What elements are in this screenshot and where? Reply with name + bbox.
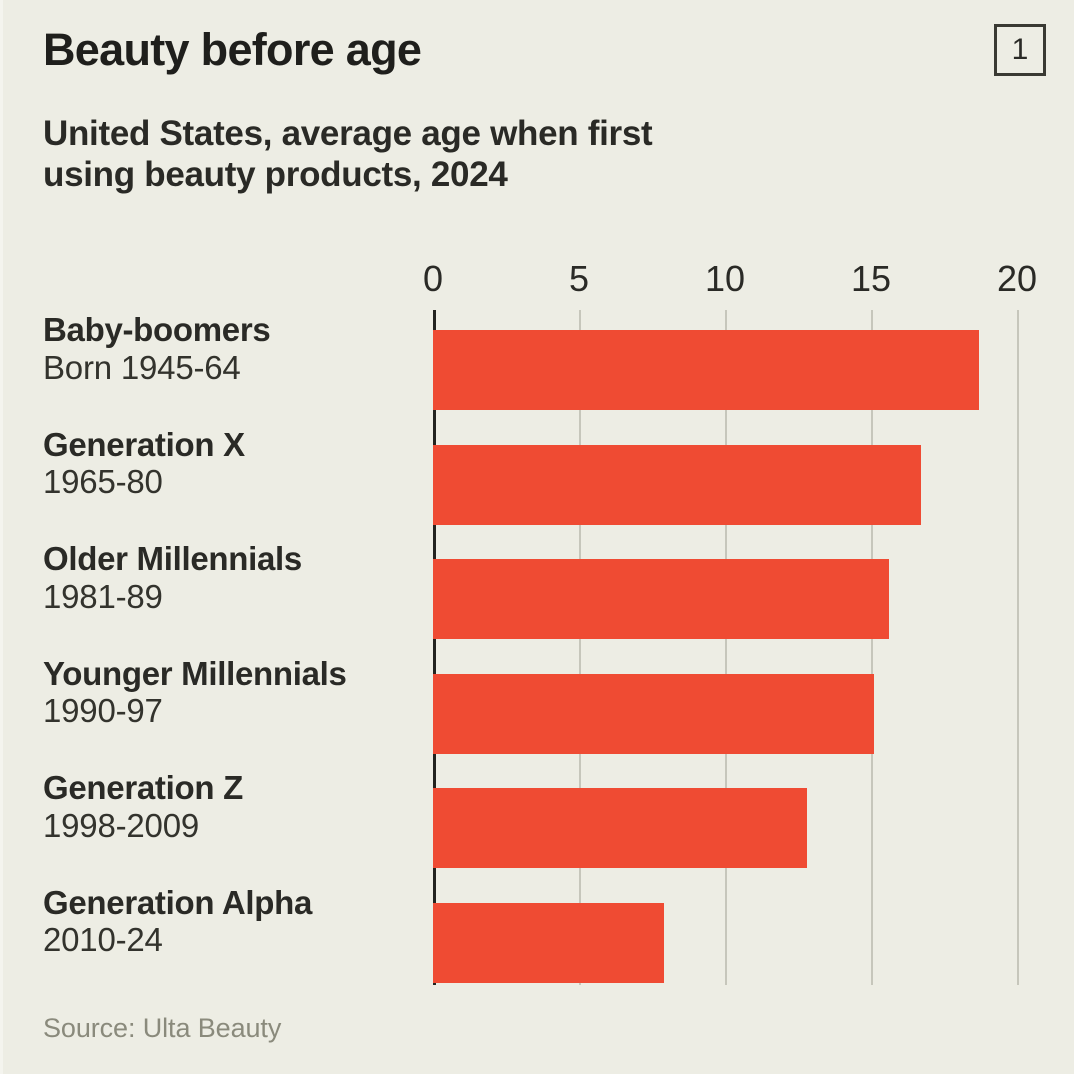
category-name: Younger Millennials — [43, 656, 433, 693]
bar — [433, 445, 921, 525]
x-tick-label-10: 10 — [705, 258, 745, 300]
bar — [433, 674, 874, 754]
category-label: Older Millennials1981-89 — [43, 541, 433, 617]
category-name: Baby-boomers — [43, 312, 433, 349]
category-name: Generation X — [43, 427, 433, 464]
infographic-card: Beauty before age 1 United States, avera… — [0, 0, 1074, 1074]
page-title: Beauty before age — [43, 26, 421, 73]
category-labels: Baby-boomersBorn 1945-64Generation X1965… — [43, 310, 433, 985]
category-birth-years: 2010-24 — [43, 921, 433, 960]
category-label: Baby-boomersBorn 1945-64 — [43, 312, 433, 388]
x-tick-label-15: 15 — [851, 258, 891, 300]
source-note: Source: Ulta Beauty — [43, 1013, 281, 1044]
category-birth-years: 1990-97 — [43, 692, 433, 731]
x-tick-label-5: 5 — [569, 258, 589, 300]
category-birth-years: 1981-89 — [43, 578, 433, 617]
bar — [433, 903, 664, 983]
category-label: Generation Z1998-2009 — [43, 770, 433, 846]
x-tick-label-20: 20 — [997, 258, 1037, 300]
category-label: Younger Millennials1990-97 — [43, 656, 433, 732]
bar — [433, 330, 979, 410]
category-birth-years: 1998-2009 — [43, 807, 433, 846]
chart-subtitle: United States, average age when first us… — [43, 113, 743, 196]
category-birth-years: Born 1945-64 — [43, 349, 433, 388]
x-axis-tick-labels: 05101520 — [433, 258, 1017, 304]
category-name: Older Millennials — [43, 541, 433, 578]
figure-number-badge: 1 — [994, 24, 1046, 76]
category-label: Generation Alpha2010-24 — [43, 885, 433, 961]
bar — [433, 788, 807, 868]
category-name: Generation Z — [43, 770, 433, 807]
gridline-20 — [1017, 310, 1019, 985]
category-label: Generation X1965-80 — [43, 427, 433, 503]
bar-series — [433, 310, 1017, 985]
category-birth-years: 1965-80 — [43, 463, 433, 502]
bar — [433, 559, 889, 639]
x-tick-label-0: 0 — [423, 258, 443, 300]
plot-area — [433, 310, 1017, 985]
category-name: Generation Alpha — [43, 885, 433, 922]
